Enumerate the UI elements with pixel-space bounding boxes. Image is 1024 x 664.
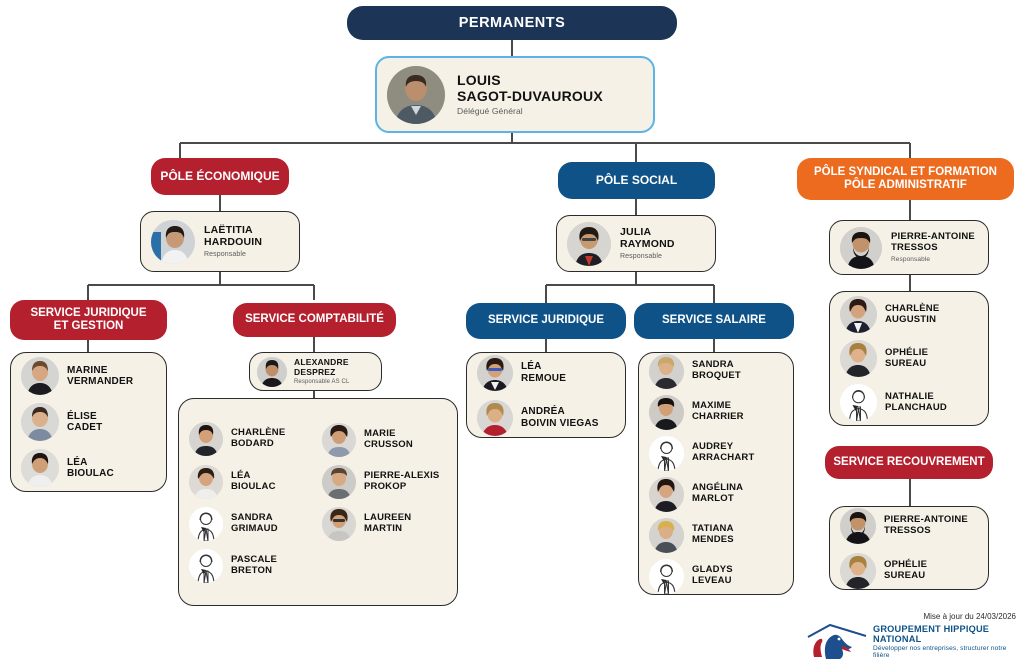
avatar [840,553,876,589]
manager-role: Responsable [620,253,675,260]
service-juridique-gestion-members[interactable]: MARINE VERMANDER ÉLISE CADET LÉA BIOULAC [10,352,167,492]
page-title-banner: PERMANENTS [347,6,677,40]
member-first-name: LÉA [231,470,251,481]
avatar [840,340,877,377]
avatar [567,222,611,266]
list-item[interactable]: LÉA BIOULAC [21,449,156,487]
member-last-name: MARTIN [364,523,402,534]
list-item[interactable]: MAXIME CHARRIER [649,395,783,430]
member-first-name: PASCALE [231,554,277,565]
manager-last-name: RAYMOND [620,238,675,250]
list-item[interactable]: PIERRE-ANTOINE TRESSOS [840,508,978,544]
avatar [649,477,684,512]
list-item[interactable]: LAUREEN MARTIN [322,507,447,541]
manager-first-name: JULIA [620,226,651,238]
service-comptabilite-lead-card[interactable]: ALEXANDRE DESPREZ Responsable AS CL [249,352,382,391]
list-item[interactable]: LÉA BIOULAC [189,465,314,499]
member-first-name: AUDREY [692,441,733,452]
lead-role: Responsable AS CL [294,379,349,385]
service-juridique-header[interactable]: SERVICE JURIDIQUE [466,303,626,339]
list-item[interactable]: CHARLÈNE AUGUSTIN [840,296,978,333]
member-first-name: NATHALIE [885,391,934,402]
avatar [477,355,513,391]
grid-spacer [322,547,447,583]
list-item[interactable]: SANDRA GRIMAUD [189,507,314,541]
avatar [840,227,882,269]
list-item[interactable]: OPHÉLIE SUREAU [840,340,978,377]
pole-social-header[interactable]: PÔLE SOCIAL [558,162,715,199]
list-item[interactable]: LÉA REMOUE [477,355,615,391]
manager-last-name: TRESSOS [891,242,938,253]
avatar [21,357,59,395]
service-recouvrement-header[interactable]: SERVICE RECOUVREMENT [825,446,993,479]
member-last-name: BODARD [231,438,274,449]
placeholder-illustration-icon [189,549,223,583]
manager-info: PIERRE-ANTOINE TRESSOS Responsable [891,232,975,262]
member-last-name: TRESSOS [884,525,931,536]
member-first-name: GLADYS [692,564,733,575]
member-first-name: TATIANA [692,523,734,534]
logo-subtitle: Développer nos entreprises, structurer n… [873,645,1018,659]
pole-economique-manager-card[interactable]: LAËTITIA HARDOUIN Responsable [140,211,300,272]
member-last-name: VERMANDER [67,376,133,387]
avatar [322,465,356,499]
pole-social-manager-card[interactable]: JULIA RAYMOND Responsable [556,215,716,272]
member-first-name: MARINE [67,365,108,376]
service-label: SERVICE JURIDIQUE [488,314,604,327]
director-info: LOUIS SAGOT-DUVAUROUX Délégué Général [457,73,603,116]
member-first-name: CHARLÈNE [885,303,939,314]
list-item[interactable]: SANDRA BROQUET [649,354,783,389]
member-last-name: MENDES [692,534,734,545]
list-item[interactable]: GLADYS LEVEAU [649,559,783,594]
list-item[interactable]: ÉLISE CADET [21,403,156,441]
lead-info: ALEXANDRE DESPREZ Responsable AS CL [294,358,349,385]
member-last-name: PROKOP [364,481,406,492]
service-label-line2: ET GESTION [54,320,124,333]
member-first-name: SANDRA [692,359,734,370]
manager-first-name: LAËTITIA [204,224,253,236]
member-last-name: CHARRIER [692,411,744,422]
member-first-name: MARIE [364,428,396,439]
placeholder-illustration-icon [189,507,223,541]
member-first-name: LÉA [521,361,542,372]
pole-economique-label: PÔLE ÉCONOMIQUE [160,170,279,184]
avatar [189,465,223,499]
pole-label-line1: PÔLE SYNDICAL ET FORMATION [814,166,997,179]
director-last-name: SAGOT-DUVAUROUX [457,88,603,104]
lead-first-name: ALEXANDRE [294,357,349,367]
member-first-name: CHARLÈNE [231,427,285,438]
pole-social-label: PÔLE SOCIAL [596,174,677,188]
member-last-name: GRIMAUD [231,523,278,534]
list-item[interactable]: AUDREY ARRACHART [649,436,783,471]
service-recouvrement-members[interactable]: PIERRE-ANTOINE TRESSOS OPHÉLIE SUREAU [829,506,989,590]
avatar [840,508,876,544]
service-juridique-gestion-header[interactable]: SERVICE JURIDIQUE ET GESTION [10,300,167,340]
member-last-name: BOIVIN VIEGAS [521,418,599,429]
avatar [189,422,223,456]
member-last-name: BROQUET [692,370,741,381]
list-item[interactable]: ANDRÉA BOIVIN VIEGAS [477,400,615,436]
service-label: SERVICE COMPTABILITÉ [245,313,384,326]
list-item[interactable]: TATIANA MENDES [649,518,783,553]
member-last-name: BIOULAC [231,481,276,492]
member-last-name: ARRACHART [692,452,755,463]
manager-first-name: PIERRE-ANTOINE [891,231,975,242]
member-first-name: SANDRA [231,512,273,523]
avatar [477,400,513,436]
footer-logo-block: Mise à jour du 24/03/2026 GROUPEMENT HIP… [806,612,1018,660]
member-first-name: LÉA [67,457,88,468]
avatar [387,66,445,124]
horse-head-logo-icon [806,623,868,659]
member-last-name: CADET [67,422,102,433]
pole-economique-header[interactable]: PÔLE ÉCONOMIQUE [151,158,289,195]
member-first-name: PIERRE-ANTOINE [884,514,968,525]
member-first-name: MAXIME [692,400,731,411]
pole-syndical-header[interactable]: PÔLE SYNDICAL ET FORMATION PÔLE ADMINIST… [797,158,1014,200]
placeholder-illustration-icon [840,384,877,421]
member-last-name: SUREAU [884,570,925,581]
service-label: SERVICE RECOUVREMENT [833,456,984,469]
avatar [840,296,877,333]
list-item[interactable]: CHARLÈNE BODARD [189,421,314,457]
avatar [649,518,684,553]
avatar [322,423,356,457]
pole-syndical-manager-card[interactable]: PIERRE-ANTOINE TRESSOS Responsable [829,220,989,275]
update-date: Mise à jour du 24/03/2026 [806,612,1018,621]
member-first-name: LAUREEN [364,512,411,523]
member-first-name: ÉLISE [67,411,97,422]
member-first-name: OPHÉLIE [885,347,928,358]
service-comptabilite-members[interactable]: CHARLÈNE BODARD MARIE CRUSSON LÉA BIOULA… [178,398,458,606]
member-last-name: LEVEAU [692,575,732,586]
service-salaire-header[interactable]: SERVICE SALAIRE [634,303,794,339]
service-juridique-members[interactable]: LÉA REMOUE ANDRÉA BOIVIN VIEGAS [466,352,626,438]
lead-last-name: DESPREZ [294,367,336,377]
avatar [649,395,684,430]
service-label: SERVICE SALAIRE [662,314,766,327]
avatar [257,357,287,387]
director-card[interactable]: LOUIS SAGOT-DUVAUROUX Délégué Général [375,56,655,133]
manager-role: Responsable [891,256,975,263]
member-first-name: ANGÉLINA [692,482,743,493]
page-title: PERMANENTS [459,15,566,31]
director-first-name: LOUIS [457,72,501,88]
member-first-name: OPHÉLIE [884,559,927,570]
manager-role: Responsable [204,251,262,258]
avatar [151,220,195,264]
avatar [21,449,59,487]
list-item[interactable]: NATHALIE PLANCHAUD [840,384,978,421]
member-last-name: CRUSSON [364,439,413,450]
member-last-name: AUGUSTIN [885,314,936,325]
service-salaire-members[interactable]: SANDRA BROQUET MAXIME CHARRIER AUDREY AR… [638,352,794,595]
avatar [649,354,684,389]
list-item[interactable]: PASCALE BRETON [189,549,314,583]
pole-syndical-team[interactable]: CHARLÈNE AUGUSTIN OPHÉLIE SUREAU NATHALI… [829,291,989,426]
list-item[interactable]: OPHÉLIE SUREAU [840,553,978,589]
avatar [21,403,59,441]
director-role: Délégué Général [457,106,603,116]
list-item[interactable]: MARINE VERMANDER [21,357,156,395]
member-last-name: MARLOT [692,493,734,504]
pole-label-line2: PÔLE ADMINISTRATIF [844,179,967,192]
member-last-name: BIOULAC [67,468,114,479]
placeholder-illustration-icon [649,559,684,594]
manager-info: JULIA RAYMOND Responsable [620,227,675,260]
service-comptabilite-header[interactable]: SERVICE COMPTABILITÉ [233,303,396,337]
member-first-name: ANDRÉA [521,406,565,417]
member-last-name: PLANCHAUD [885,402,947,413]
service-label-line1: SERVICE JURIDIQUE [30,307,146,320]
avatar [322,507,356,541]
member-last-name: BRETON [231,565,272,576]
member-last-name: REMOUE [521,373,566,384]
placeholder-illustration-icon [649,436,684,471]
manager-info: LAËTITIA HARDOUIN Responsable [204,225,262,258]
list-item[interactable]: ANGÉLINA MARLOT [649,477,783,512]
member-last-name: SUREAU [885,358,926,369]
list-item[interactable]: MARIE CRUSSON [322,423,447,457]
logo-title: GROUPEMENT HIPPIQUE NATIONAL [873,624,1018,644]
manager-last-name: HARDOUIN [204,236,262,248]
member-first-name: PIERRE-ALEXIS [364,470,439,481]
organigramme-page: PERMANENTS LOUIS SAGOT-DUVAUROUX Délégué… [0,0,1024,664]
list-item[interactable]: PIERRE-ALEXIS PROKOP [322,465,447,499]
